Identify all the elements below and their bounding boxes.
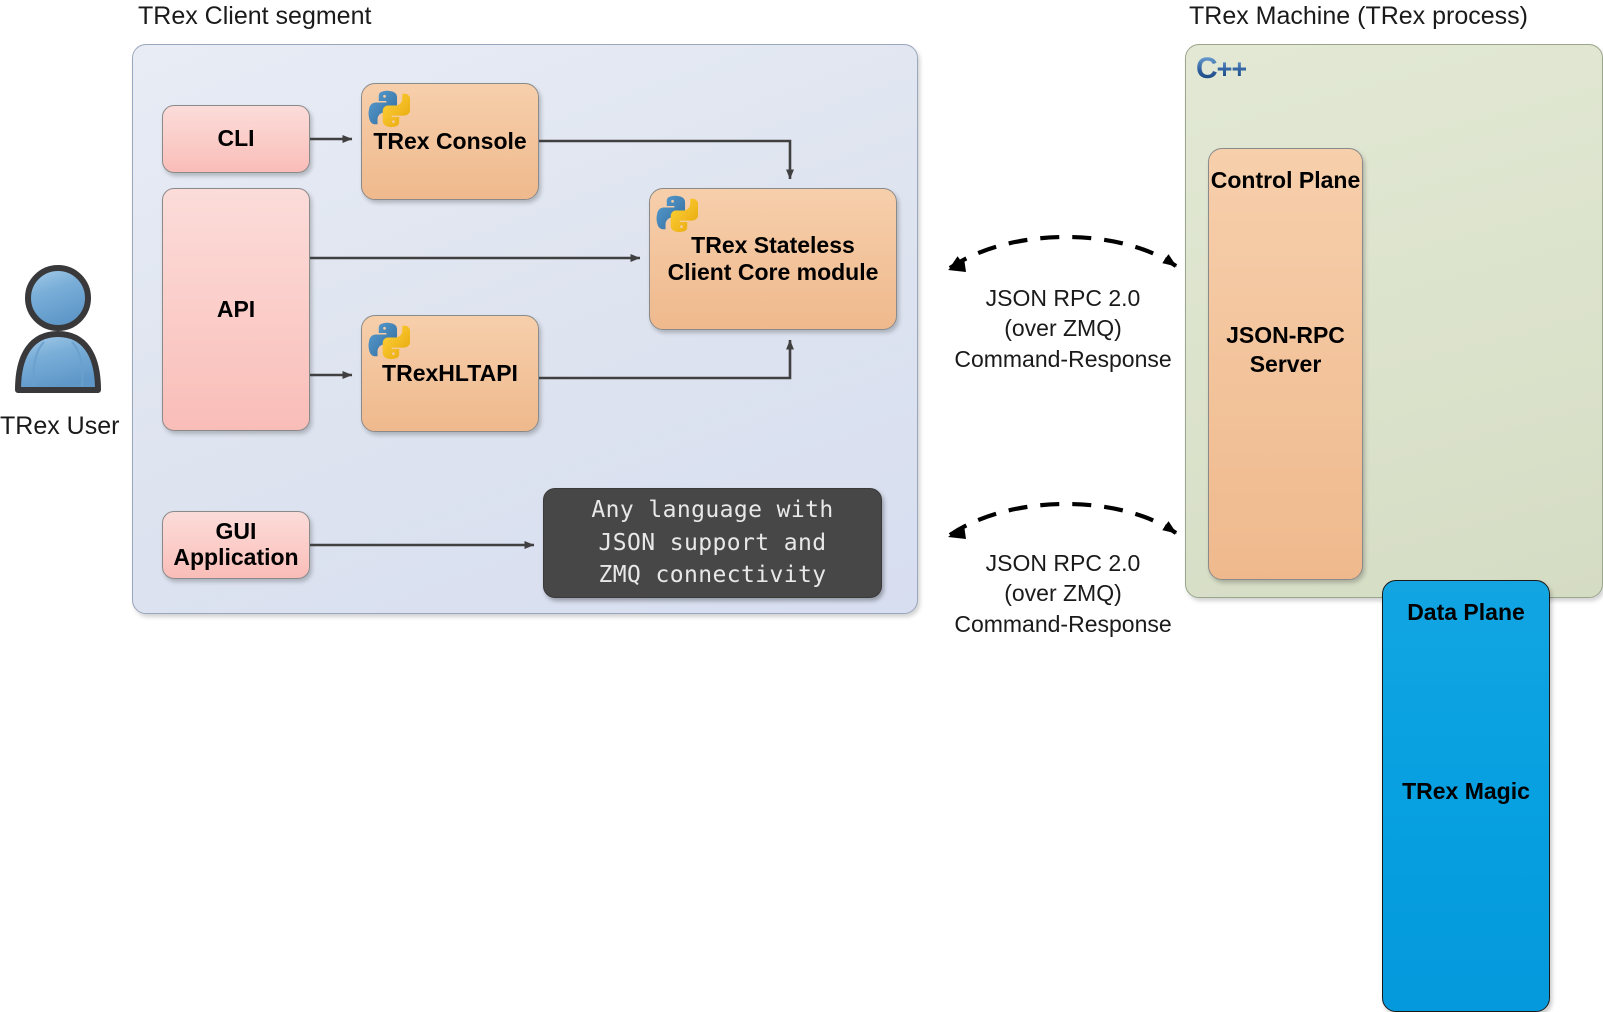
- python-logo-icon: [368, 320, 410, 368]
- control-plane-body-line2: Server: [1209, 350, 1362, 379]
- node-cli[interactable]: CLI: [162, 105, 310, 173]
- node-stateless-core-label-line2: Client Core module: [668, 259, 879, 286]
- python-logo-icon: [656, 193, 698, 241]
- node-any-language[interactable]: Any language with JSON support and ZMQ c…: [543, 488, 882, 598]
- control-plane-body-line1: JSON-RPC: [1209, 321, 1362, 350]
- node-trex-console[interactable]: TRex Console: [361, 83, 539, 200]
- control-plane-title: Control Plane: [1209, 167, 1362, 194]
- cpp-logo-plus: ++: [1217, 54, 1247, 84]
- rpc-bottom-line3: Command-Response: [938, 609, 1188, 639]
- rpc-top-label: JSON RPC 2.0 (over ZMQ) Command-Response: [938, 283, 1188, 374]
- node-gui-application[interactable]: GUI Application: [162, 511, 310, 579]
- control-plane-body: JSON-RPC Server: [1209, 321, 1362, 379]
- actor-label: TRex User: [0, 412, 118, 441]
- any-language-line2: JSON support and: [599, 527, 827, 560]
- data-plane-body-line1: TRex Magic: [1383, 777, 1549, 806]
- node-gui-label-line2: Application: [173, 545, 298, 571]
- node-api-label: API: [217, 297, 255, 323]
- node-stateless-core[interactable]: TRex Stateless Client Core module: [649, 188, 897, 330]
- rpc-bottom-line2: (over ZMQ): [938, 578, 1188, 608]
- avatar: [8, 258, 108, 398]
- machine-title: TRex Machine (TRex process): [1189, 2, 1528, 31]
- node-cli-label: CLI: [217, 126, 254, 152]
- diagram-canvas: TRex Client segment TRex Machine (TRex p…: [0, 0, 1603, 658]
- edge-rpc-bottom: [948, 504, 1176, 539]
- any-language-line3: ZMQ connectivity: [599, 559, 827, 592]
- node-trexhltapi[interactable]: TRexHLTAPI: [361, 315, 539, 432]
- rpc-top-line3: Command-Response: [938, 344, 1188, 374]
- node-stateless-core-label-line1: TRex Stateless: [691, 232, 855, 259]
- rpc-top-line2: (over ZMQ): [938, 313, 1188, 343]
- rpc-bottom-line1: JSON RPC 2.0: [938, 548, 1188, 578]
- edge-rpc-top: [948, 237, 1176, 272]
- any-language-line1: Any language with: [591, 494, 833, 527]
- data-plane-title: Data Plane: [1383, 599, 1549, 626]
- user-avatar-icon: [8, 258, 108, 398]
- node-gui-label-line1: GUI: [216, 519, 257, 545]
- node-data-plane[interactable]: Data Plane TRex Magic: [1382, 580, 1550, 1012]
- client-segment-title: TRex Client segment: [138, 2, 371, 31]
- node-api[interactable]: API: [162, 188, 310, 431]
- cpp-logo-letter: C: [1196, 52, 1217, 85]
- node-control-plane[interactable]: Control Plane JSON-RPC Server: [1208, 148, 1363, 580]
- cpp-logo-icon: C++: [1196, 52, 1246, 86]
- rpc-top-line1: JSON RPC 2.0: [938, 283, 1188, 313]
- rpc-bottom-label: JSON RPC 2.0 (over ZMQ) Command-Response: [938, 548, 1188, 639]
- data-plane-body: TRex Magic: [1383, 777, 1549, 806]
- python-logo-icon: [368, 88, 410, 136]
